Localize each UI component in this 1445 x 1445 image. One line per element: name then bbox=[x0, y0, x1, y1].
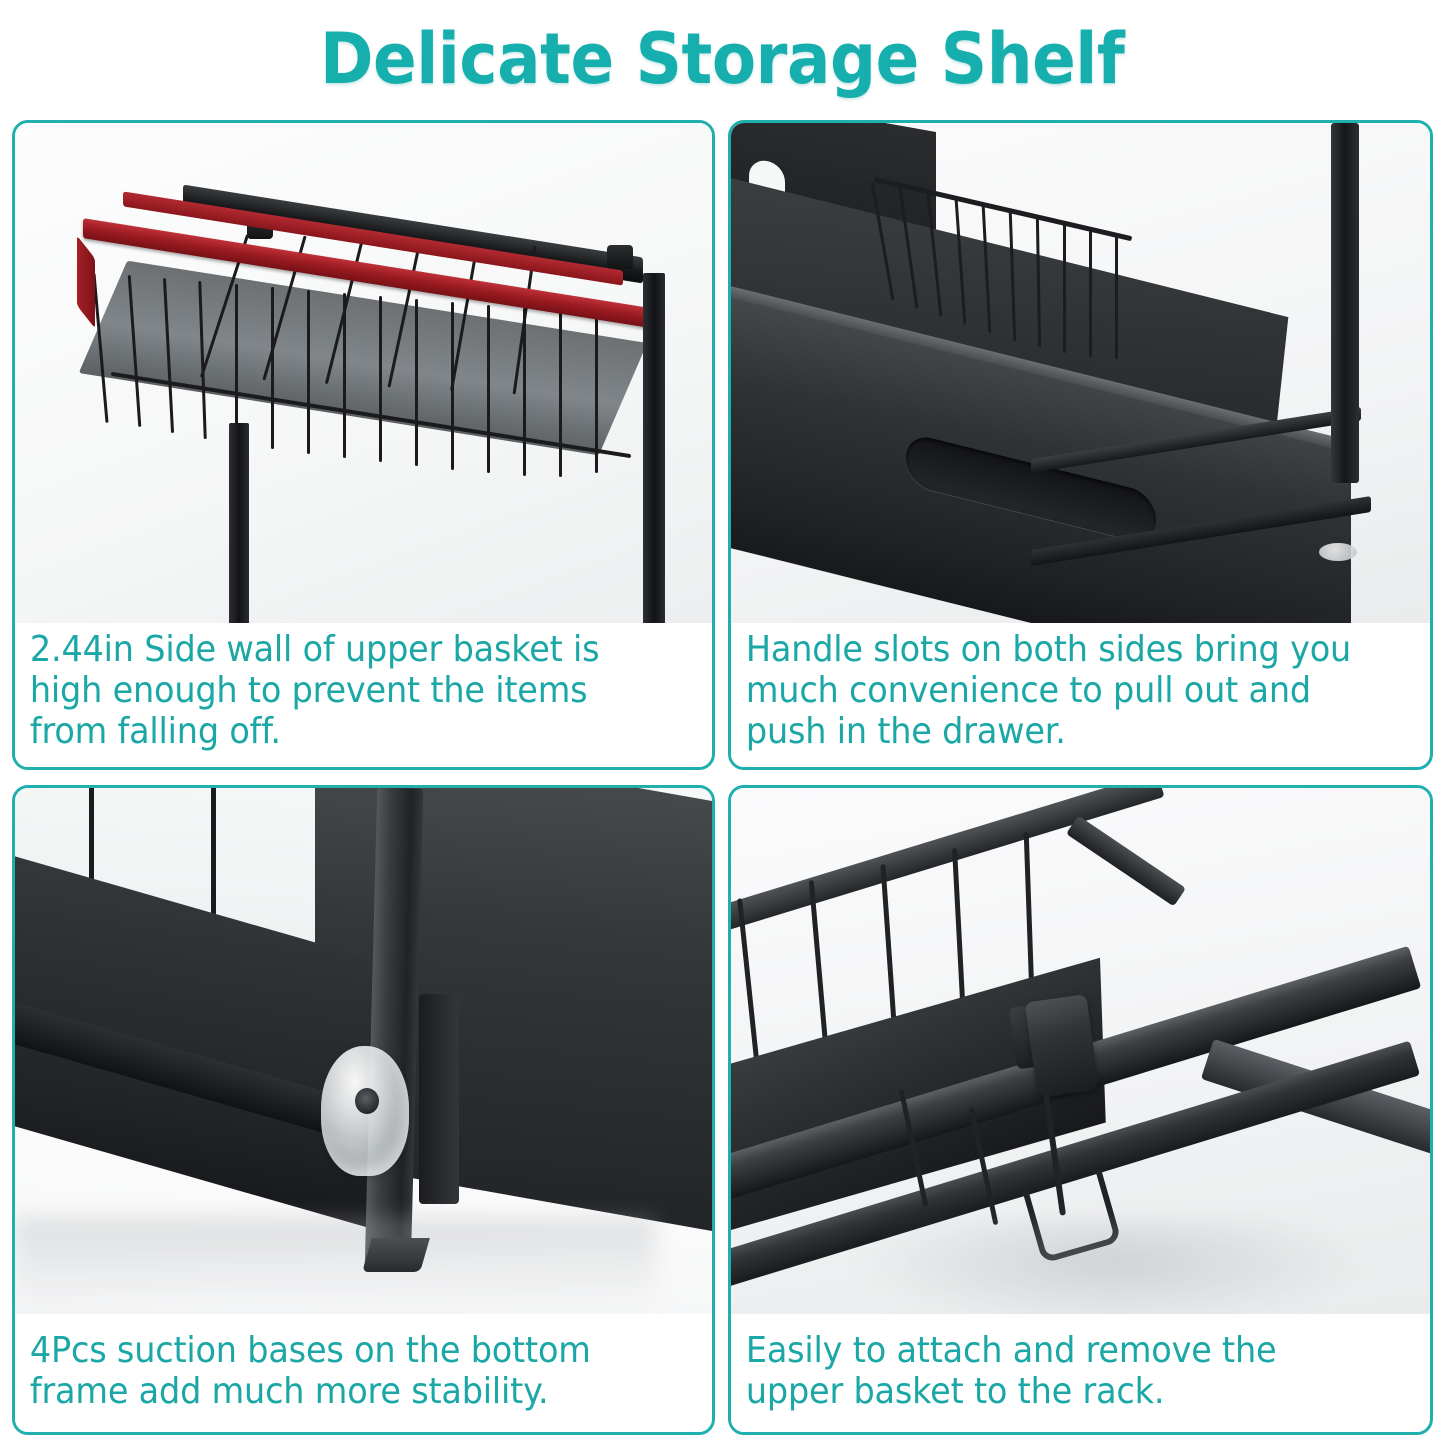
drawer-wire bbox=[927, 193, 943, 317]
basket-wire bbox=[271, 287, 274, 449]
rack-post-middle bbox=[229, 423, 249, 623]
drawer-wire bbox=[982, 205, 992, 333]
drawer-wire bbox=[899, 187, 919, 308]
feature-panel-grid: 2.44in Side wall of upper basket is high… bbox=[12, 120, 1433, 1435]
rack-post-right bbox=[643, 273, 665, 623]
header-bar: Delicate Storage Shelf bbox=[0, 0, 1445, 118]
product-photo-handle-slot bbox=[731, 123, 1430, 623]
basket-wire bbox=[415, 299, 418, 466]
basket-hook-right-icon bbox=[607, 245, 633, 269]
basket-side-rim bbox=[1066, 816, 1186, 907]
drawer-wire bbox=[1089, 229, 1092, 357]
drawer-wire bbox=[955, 199, 967, 325]
feature-panel-handle-slots: Handle slots on both sides bring you muc… bbox=[728, 120, 1433, 770]
scene-basket-hook bbox=[731, 788, 1430, 1314]
basket-wire bbox=[559, 311, 562, 477]
drawer-wire bbox=[1115, 235, 1118, 359]
feature-panel-attach-basket: Easily to attach and remove the upper ba… bbox=[728, 785, 1433, 1435]
product-photo-basket-hook bbox=[731, 788, 1430, 1314]
product-shadow bbox=[851, 1218, 1371, 1314]
drawer-wire bbox=[1009, 211, 1017, 341]
drawer-wire bbox=[1036, 217, 1041, 347]
basket-wire bbox=[487, 305, 490, 473]
product-photo-upper-basket bbox=[15, 123, 712, 623]
suction-base-icon bbox=[1319, 543, 1357, 561]
rack-inner-bar bbox=[419, 994, 459, 1204]
product-shadow bbox=[15, 1218, 655, 1308]
basket-back-rim bbox=[731, 788, 1165, 934]
drawer-wire-top-rail bbox=[874, 177, 1132, 241]
panel-caption: 4Pcs suction bases on the bottom frame a… bbox=[15, 1314, 663, 1432]
basket-wire bbox=[379, 296, 382, 462]
scene-drawer-handle bbox=[731, 123, 1430, 623]
suction-cup-center-icon bbox=[355, 1088, 379, 1114]
scene-suction-base bbox=[15, 788, 712, 1314]
basket-wire bbox=[235, 284, 238, 444]
drawer-wire-group bbox=[881, 181, 1181, 331]
page-title: Delicate Storage Shelf bbox=[320, 24, 1125, 94]
panel-caption: Handle slots on both sides bring you muc… bbox=[731, 623, 1381, 767]
basket-red-rim-left bbox=[77, 235, 95, 328]
product-photo-suction-base bbox=[15, 788, 712, 1314]
feature-panel-suction-bases: 4Pcs suction bases on the bottom frame a… bbox=[12, 785, 715, 1435]
drawer-wire bbox=[1063, 223, 1066, 353]
rack-post-right bbox=[1331, 123, 1359, 483]
basket-wire bbox=[307, 290, 310, 454]
panel-caption: 2.44in Side wall of upper basket is high… bbox=[15, 623, 663, 767]
basket-clip-icon bbox=[1025, 994, 1100, 1098]
panel-caption: Easily to attach and remove the upper ba… bbox=[731, 1314, 1381, 1432]
scene-upper-basket bbox=[15, 123, 712, 623]
feature-panel-upper-basket-height: 2.44in Side wall of upper basket is high… bbox=[12, 120, 715, 770]
